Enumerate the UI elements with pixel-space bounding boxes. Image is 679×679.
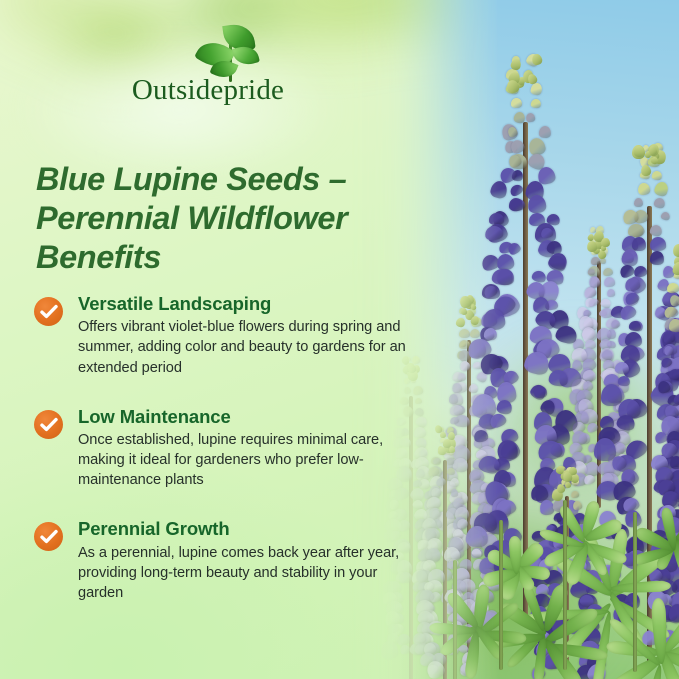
benefit-description: Once established, lupine requires minima… xyxy=(78,430,424,490)
photo-flower-part xyxy=(601,238,610,248)
photo-flower-part xyxy=(458,329,469,338)
photo-flower-part xyxy=(563,500,567,670)
benefit-item-1: Low Maintenance Once established, lupine… xyxy=(34,406,424,491)
photo-flower-part xyxy=(499,520,503,670)
photo-flower-part xyxy=(628,224,643,237)
benefit-description: As a perennial, lupine comes back year a… xyxy=(78,543,424,603)
check-circle-icon xyxy=(34,410,63,439)
photo-flower-part xyxy=(669,318,679,331)
page-title: Blue Lupine Seeds – Perennial Wildflower… xyxy=(36,160,426,277)
photo-flower-part xyxy=(538,126,551,139)
photo-flower-part xyxy=(530,98,541,108)
check-circle-icon xyxy=(34,522,63,551)
photo-flower-part xyxy=(601,384,622,406)
photo-flower-part xyxy=(453,560,457,679)
photo-flower-part xyxy=(615,443,627,453)
photo-flower-part xyxy=(458,373,466,381)
photo-flower-part xyxy=(650,237,667,252)
photo-flower-part xyxy=(570,490,579,498)
photo-flower-part xyxy=(610,319,620,328)
product-infographic: Outsidepride Blue Lupine Seeds – Perenni… xyxy=(0,0,679,679)
photo-flower-part xyxy=(511,98,522,108)
photo-flower-part xyxy=(509,198,523,211)
check-circle-icon xyxy=(34,297,63,326)
photo-flower-part xyxy=(450,405,463,416)
photo-flower-part xyxy=(446,468,455,476)
photo-flower-part xyxy=(527,195,546,215)
benefit-item-0: Versatile Landscaping Offers vibrant vio… xyxy=(34,293,424,378)
photo-flower-part xyxy=(667,282,679,293)
photo-flower-part xyxy=(634,198,643,207)
photo-flower-part xyxy=(637,182,650,195)
benefit-description: Offers vibrant violet-blue flowers durin… xyxy=(78,317,424,377)
brand-wordmark: Outsidepride xyxy=(118,74,298,107)
benefit-title: Perennial Growth xyxy=(78,518,424,539)
photo-flower-part xyxy=(437,446,446,455)
benefit-title: Low Maintenance xyxy=(78,406,424,427)
photo-flower-part xyxy=(618,376,631,387)
photo-flower-part xyxy=(586,240,597,252)
photo-flower-part xyxy=(673,262,679,275)
photo-flower-part xyxy=(440,432,446,438)
benefit-title: Versatile Landscaping xyxy=(78,293,424,314)
photo-flower-part xyxy=(470,328,480,337)
brand-logo[interactable]: Outsidepride xyxy=(118,24,298,112)
photo-flower-part xyxy=(633,512,637,672)
benefit-item-2: Perennial Growth As a perennial, lupine … xyxy=(34,518,424,603)
benefits-list: Versatile Landscaping Offers vibrant vio… xyxy=(34,293,424,603)
photo-flower-part xyxy=(670,456,679,470)
photo-flower-part xyxy=(632,237,646,251)
photo-flower-part xyxy=(607,288,616,296)
